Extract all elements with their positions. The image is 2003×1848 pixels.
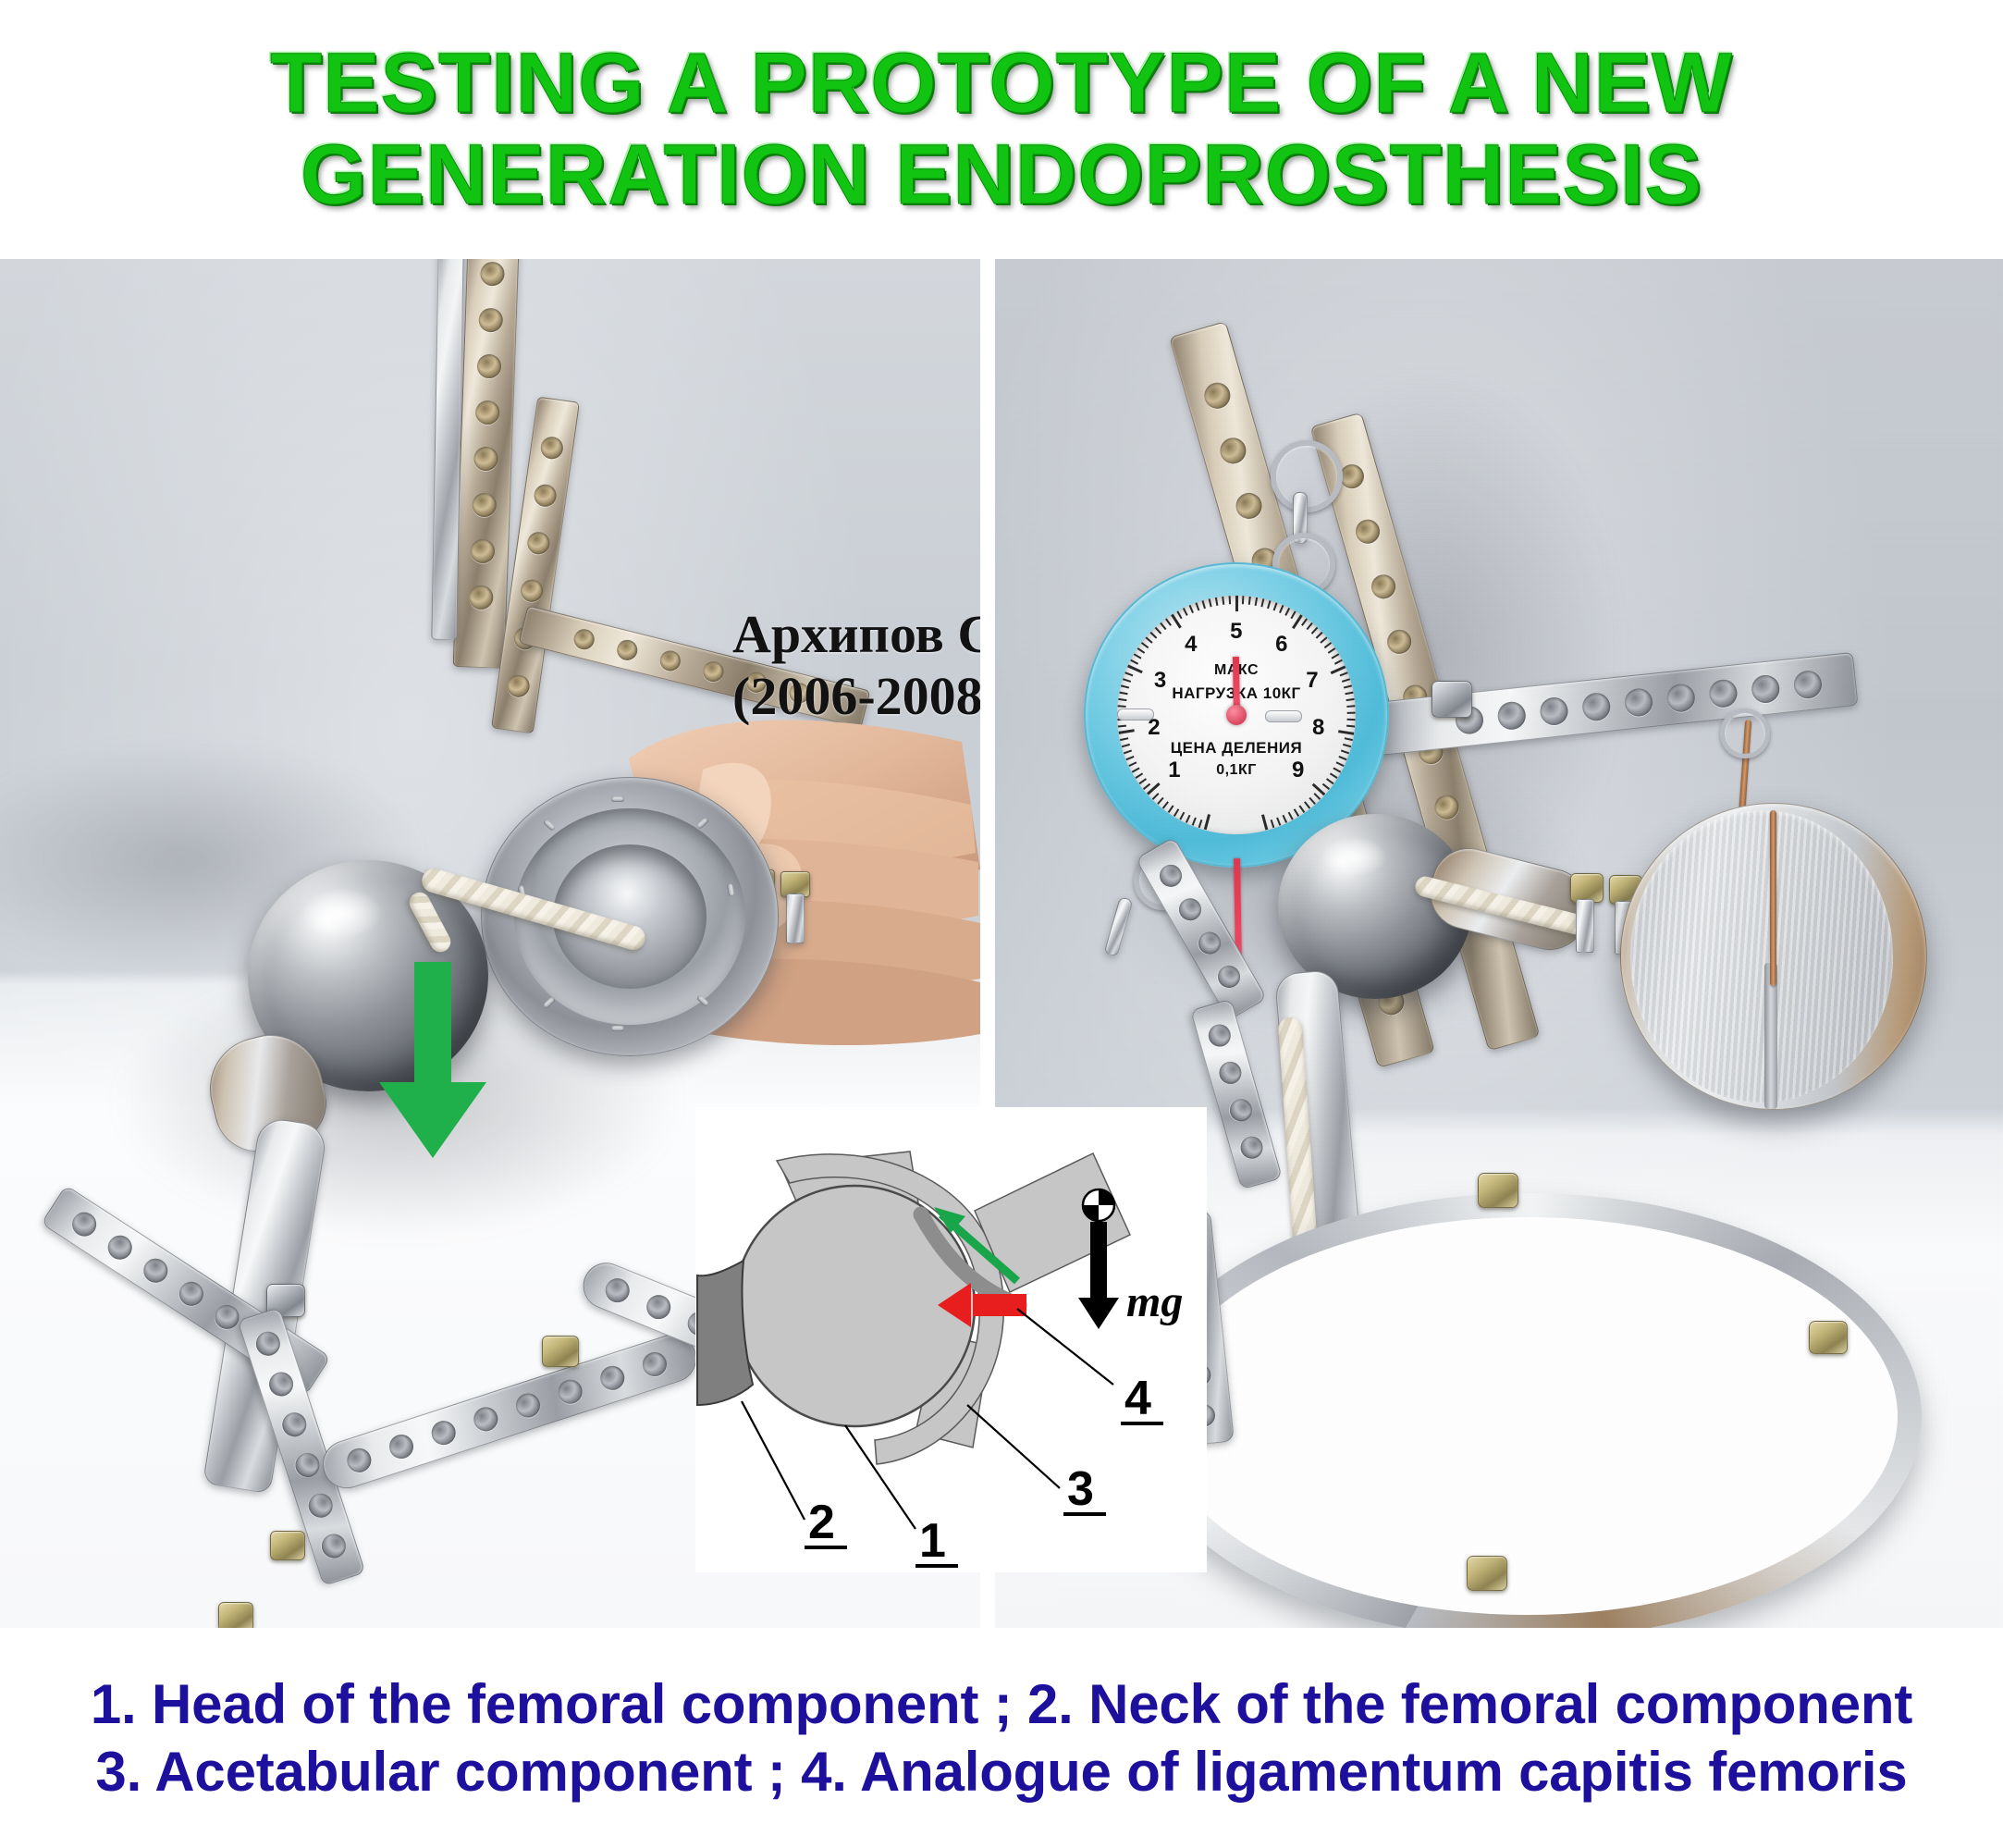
ring-post-nut: [1809, 1321, 1848, 1354]
dial-label-division-value: 0,1КГ: [1216, 762, 1257, 779]
bolt-nut: [270, 1531, 305, 1560]
dial-numeral-6: 6: [1275, 634, 1287, 656]
green-down-arrow-icon: [366, 962, 496, 1165]
figure-caption: 1. Head of the femoral component ; 2. Ne…: [0, 1628, 2003, 1848]
poster-page: TESTING A PROTOTYPE OF A NEW GENERATION …: [0, 0, 2003, 1848]
beam-nut: [1432, 681, 1472, 718]
dial-numeral-8: 8: [1312, 717, 1324, 739]
dial-numeral-4: 4: [1185, 634, 1197, 656]
author-attribution: Архипов С.В. (2006-2008): [732, 603, 980, 728]
callout-number-4: 4: [1124, 1372, 1151, 1425]
caption-line-2: 3. Acetabular component ; 4. Analogue of…: [95, 1741, 1907, 1803]
bolt-nut: [542, 1336, 579, 1367]
dial-adjust-slot-left: [1117, 708, 1154, 721]
ring-post-nut: [1478, 1173, 1518, 1208]
poster-title: TESTING A PROTOTYPE OF A NEW GENERATION …: [0, 0, 2003, 259]
inset-diagram-svg: mg 4 3 1 2: [695, 1107, 1207, 1572]
callout-number-2: 2: [808, 1496, 835, 1549]
callout-number-3: 3: [1067, 1462, 1094, 1516]
title-line-1: TESTING A PROTOTYPE OF A NEW: [270, 38, 1733, 129]
disc-face: [1630, 810, 1893, 1103]
dial-hub: [1226, 705, 1247, 725]
dial-numeral-5: 5: [1230, 621, 1242, 643]
author-years: (2006-2008): [732, 665, 980, 727]
dial-numeral-7: 7: [1306, 670, 1318, 692]
dial-numeral-3: 3: [1154, 670, 1166, 692]
inset-diagram: mg 4 3 1 2: [695, 1107, 1207, 1572]
dial-numeral-1: 1: [1168, 759, 1180, 782]
dial-numeral-9: 9: [1292, 759, 1304, 782]
disc-center-wire: [1770, 810, 1776, 986]
threaded-rod: [786, 893, 805, 943]
bolt-nut: [218, 1602, 253, 1628]
callout-leader-2: [742, 1401, 805, 1520]
title-line-2: GENERATION ENDOPROSTHESIS: [301, 129, 1702, 221]
callout-number-1: 1: [919, 1514, 946, 1568]
author-name: Архипов С.В.: [732, 603, 980, 665]
center-of-gravity-icon: [1083, 1189, 1114, 1221]
dial-label-division: ЦЕНА ДЕЛЕНИЯ: [1171, 739, 1302, 758]
ring-post-nut: [1467, 1556, 1507, 1591]
disc-hook: [1720, 708, 1770, 758]
femoral-head-circle: [734, 1186, 975, 1426]
threaded-rod: [1576, 899, 1594, 953]
caption-line-1: 1. Head of the femoral component ; 2. Ne…: [91, 1673, 1912, 1735]
external-fixator-ring: [1134, 1193, 1922, 1628]
dial-adjust-slot-right: [1265, 710, 1302, 722]
mg-label: mg: [1126, 1277, 1183, 1326]
callout-leader-3: [967, 1405, 1060, 1488]
